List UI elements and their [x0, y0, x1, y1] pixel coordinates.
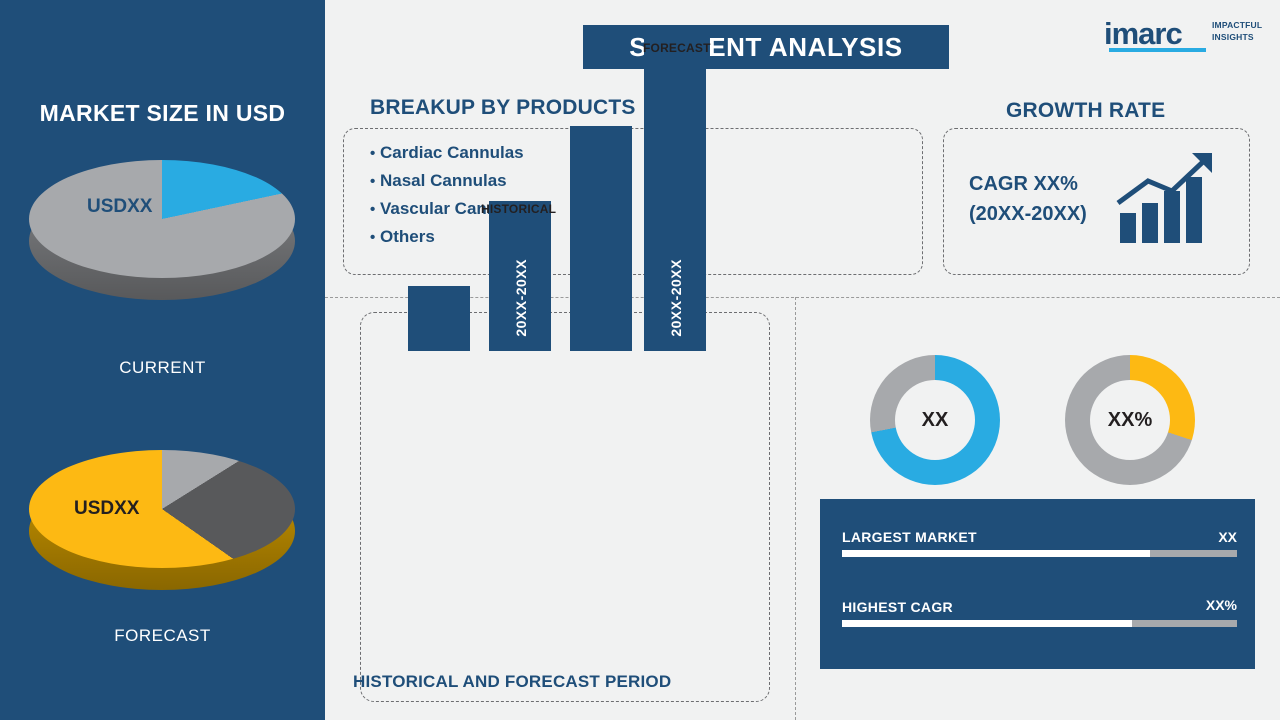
highest-cagr-label: HIGHEST CAGR: [842, 599, 953, 615]
infographic-page: MARKET SIZE IN USD USDXX CURRENT USDXX F…: [0, 0, 1280, 720]
highest-cagr-fill: [842, 620, 1132, 627]
forecast-pie-face: [29, 450, 295, 568]
donut-1-center: XX: [895, 380, 975, 460]
bar-2: 20XX-20XX: [489, 201, 551, 351]
bar-3: [570, 126, 632, 351]
logo-underline: [1109, 48, 1206, 52]
vertical-divider: [795, 297, 796, 720]
logo-tagline-line1: IMPACTFUL: [1212, 20, 1262, 30]
bar-2-label: 20XX-20XX: [513, 259, 529, 337]
bar-chart-axis-label: HISTORICAL AND FORECAST PERIOD: [353, 672, 671, 692]
forecast-tag: FORECAST: [643, 41, 711, 55]
cagr-line2: (20XX-20XX): [969, 199, 1087, 229]
market-size-title: MARKET SIZE IN USD: [0, 100, 325, 127]
left-panel: MARKET SIZE IN USD USDXX CURRENT USDXX F…: [0, 0, 325, 720]
cagr-line1: CAGR XX%: [969, 169, 1087, 199]
current-pie-face: [29, 160, 295, 278]
donut-chart-1: XX: [870, 355, 1000, 485]
donut-1-value: XX: [922, 409, 949, 432]
bar-4: 20XX-20XX: [644, 36, 706, 351]
largest-market-fill: [842, 550, 1150, 557]
historical-tag: HISTORICAL: [481, 202, 556, 216]
growth-arrow-icon: [1114, 151, 1234, 251]
cagr-text: CAGR XX% (20XX-20XX): [969, 169, 1087, 229]
donut-chart-2: XX%: [1065, 355, 1195, 485]
forecast-label: FORECAST: [0, 626, 325, 646]
growth-rate-heading: GROWTH RATE: [1006, 99, 1165, 123]
current-label: CURRENT: [0, 358, 325, 378]
largest-market-value: XX: [1218, 529, 1237, 545]
logo-tagline-line2: INSIGHTS: [1212, 32, 1254, 42]
bar-chart: 20XX-20XX 20XX-20XX HISTORICAL FORECAST: [325, 0, 733, 388]
highest-cagr-value: XX%: [1206, 597, 1237, 613]
imarc-logo: imarc IMPACTFUL INSIGHTS: [1104, 14, 1264, 54]
current-pie-chart: USDXX: [29, 160, 295, 320]
donut-2-value: XX%: [1108, 409, 1152, 432]
current-pie-value: USDXX: [87, 196, 152, 218]
logo-wordmark: imarc: [1104, 16, 1182, 52]
forecast-pie-chart: USDXX: [29, 450, 295, 610]
growth-rate-box: CAGR XX% (20XX-20XX): [943, 128, 1250, 275]
forecast-pie-value: USDXX: [74, 498, 139, 520]
right-panel: SEGMENT ANALYSIS imarc IMPACTFUL INSIGHT…: [325, 0, 1280, 720]
bar-4-label: 20XX-20XX: [668, 259, 684, 337]
donut-2-center: XX%: [1090, 380, 1170, 460]
largest-market-label: LARGEST MARKET: [842, 529, 977, 545]
bar-1: [408, 286, 470, 351]
market-stats-card: LARGEST MARKET XX HIGHEST CAGR XX%: [820, 499, 1255, 669]
